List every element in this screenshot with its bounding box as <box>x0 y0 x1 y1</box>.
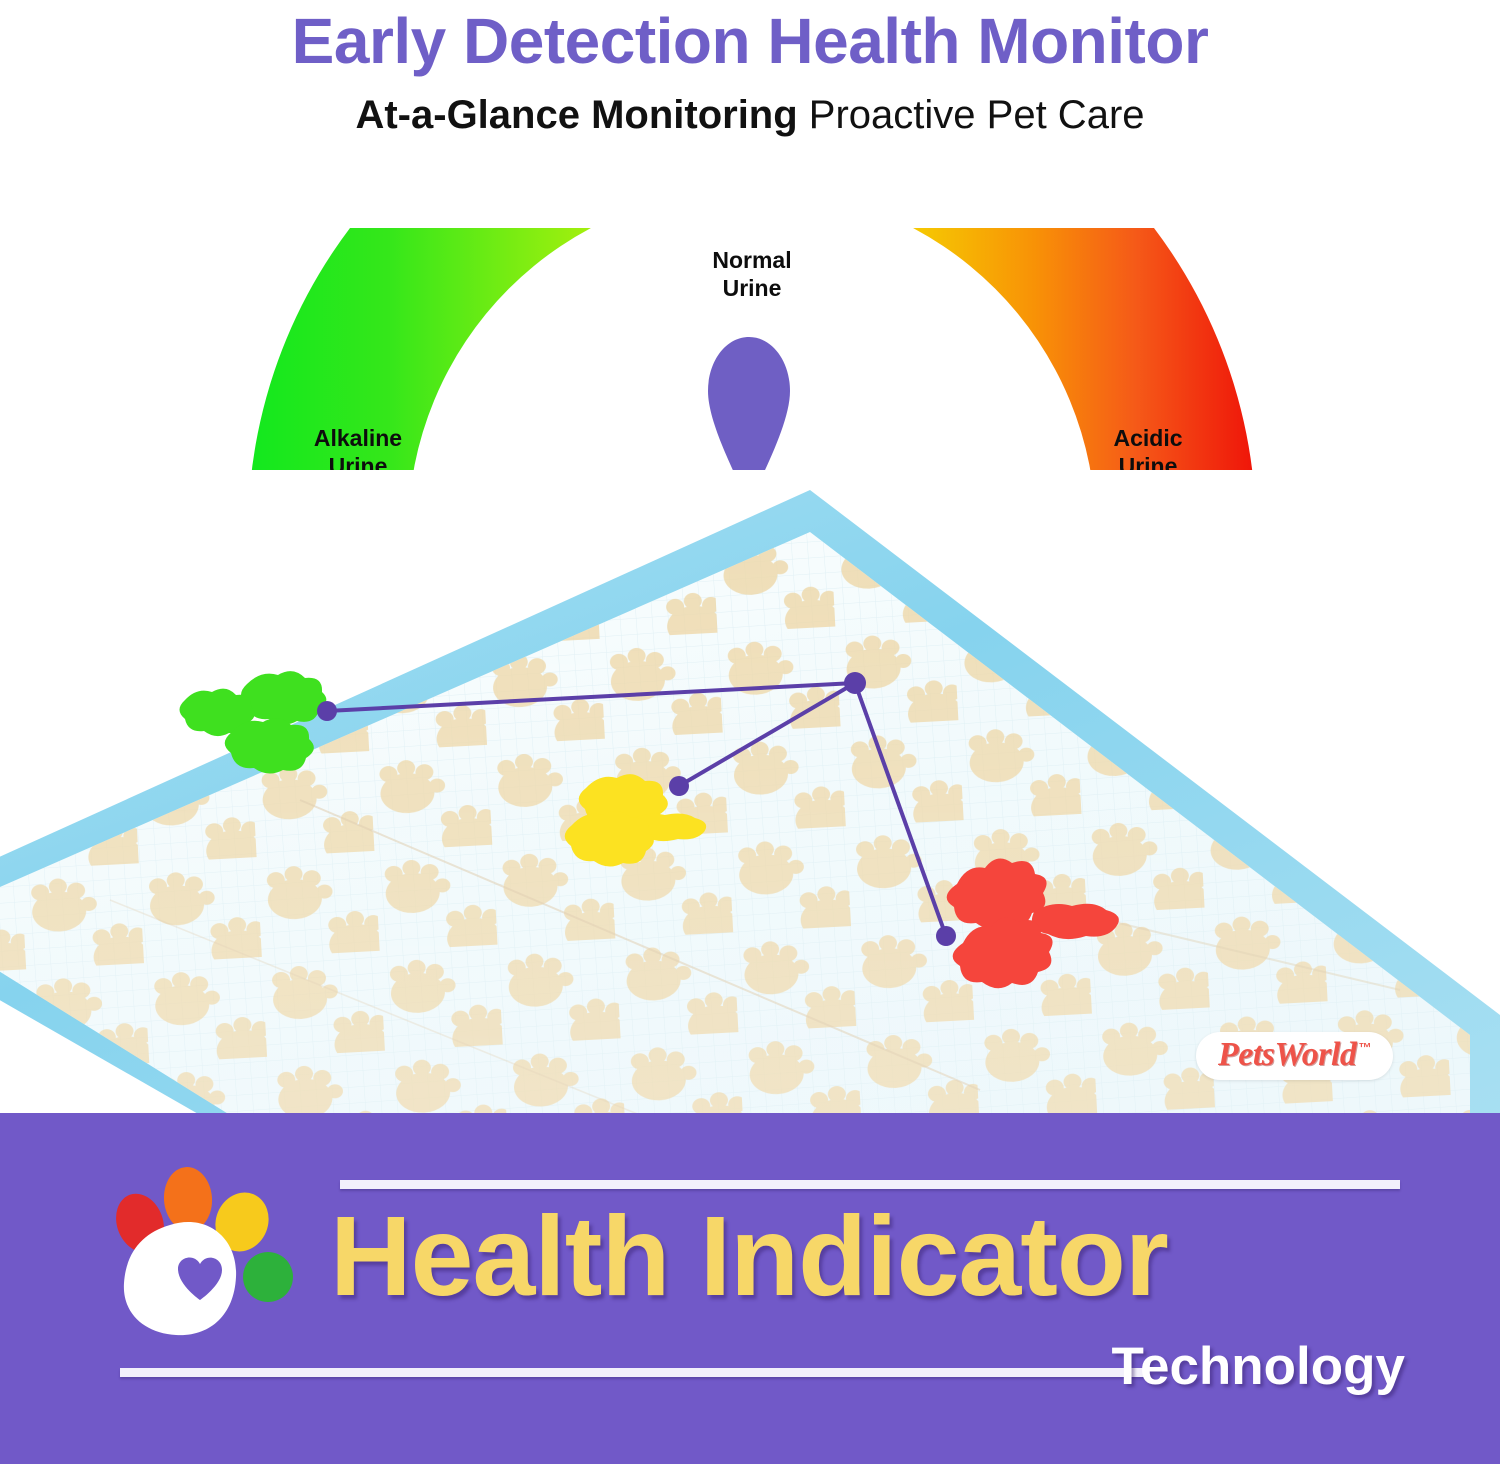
connector-dot-normal <box>669 776 689 796</box>
gauge-label-normal-line2: Urine <box>652 274 852 302</box>
gauge-label-normal: Normal Urine <box>652 246 852 302</box>
gauge-label-acidic-line1: Acidic <box>1048 424 1248 452</box>
trademark-symbol: ™ <box>1358 1040 1371 1055</box>
page-subtitle: At-a-Glance Monitoring Proactive Pet Car… <box>0 75 1500 137</box>
page-title: Early Detection Health Monitor <box>0 0 1500 75</box>
connector-hub-dot <box>844 672 866 694</box>
pad-illustration <box>0 470 1500 1115</box>
connector-dot-alkaline <box>317 701 337 721</box>
gauge-label-normal-line1: Normal <box>652 246 852 274</box>
connector-dot-acidic <box>936 926 956 946</box>
banner-rule-bottom <box>120 1368 1145 1377</box>
paw-toe-green <box>237 1246 298 1307</box>
petsworld-brand-text: PetsWorld <box>1218 1038 1356 1072</box>
banner-rule-top <box>340 1180 1400 1189</box>
subtitle-strong: At-a-Glance Monitoring <box>355 93 797 137</box>
banner-text-block: Health Indicator Technology <box>330 1150 1405 1440</box>
training-pad-photo <box>0 470 1500 1115</box>
banner-subline: Technology <box>1112 1340 1405 1393</box>
petsworld-logo: PetsWorld ™ <box>1196 1032 1393 1080</box>
subtitle-light: Proactive Pet Care <box>798 93 1145 137</box>
gauge-label-alkaline-line1: Alkaline <box>258 424 458 452</box>
banner-headline: Health Indicator <box>330 1200 1405 1313</box>
paw-heart-logo-icon <box>108 1165 323 1340</box>
header: Early Detection Health Monitor At-a-Glan… <box>0 0 1500 185</box>
